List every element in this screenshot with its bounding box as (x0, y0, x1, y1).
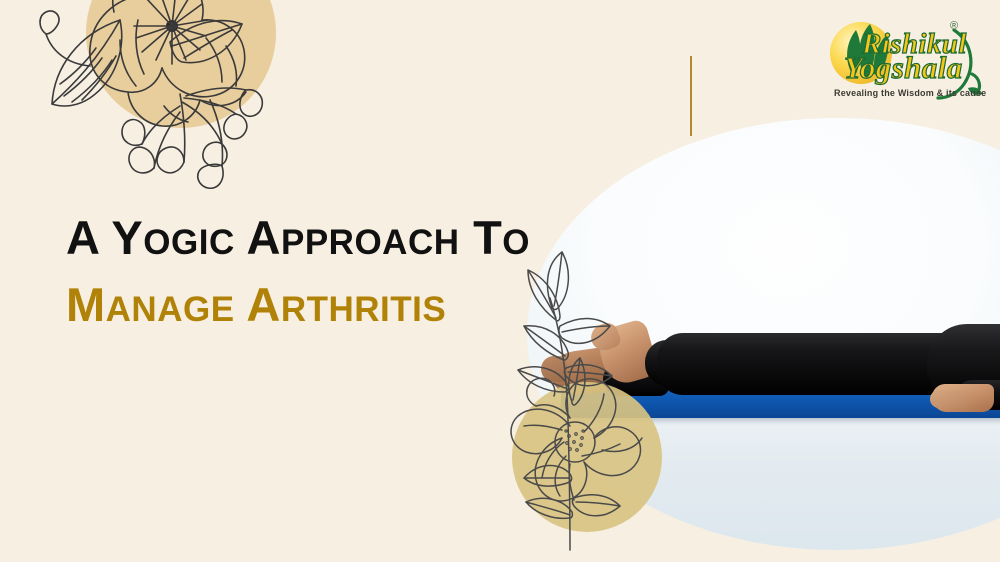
headline-l2-seg: M (66, 278, 106, 331)
headline-line-1: A YOGIC APPROACH TO (66, 214, 546, 261)
headline-l1-seg: OGIC (143, 223, 234, 262)
headline-l1-seg: A (235, 211, 281, 264)
headline-block: A YOGIC APPROACH TO MANAGE ARTHRITIS (66, 214, 546, 328)
hibiscus-flower-icon (0, 0, 294, 206)
gold-vertical-rule (690, 56, 692, 136)
headline-l2-seg: A (235, 278, 281, 331)
banner-canvas: A YOGIC APPROACH TO MANAGE ARTHRITIS Ris… (0, 0, 1000, 562)
headline-l1-seg: O (502, 223, 530, 262)
headline-l1-seg: Y (99, 211, 144, 264)
headline-l1-seg: PPROACH (281, 223, 460, 262)
headline-l1-seg: A (66, 211, 99, 264)
logo-tagline: Revealing the Wisdom & its cause (834, 88, 986, 98)
headline-l2-seg: ANAGE (106, 290, 235, 329)
registered-trademark-icon: ® (950, 20, 958, 32)
headline-l1-seg: T (460, 211, 503, 264)
headline-l2-seg: RTHRITIS (281, 290, 446, 329)
fingers (930, 390, 970, 408)
logo-word-yogshala: Yogshala (844, 50, 963, 86)
brand-logo[interactable]: Rishikul Yogshala ® Revealing the Wisdom… (822, 8, 992, 104)
headline-line-2: MANAGE ARTHRITIS (66, 281, 546, 328)
